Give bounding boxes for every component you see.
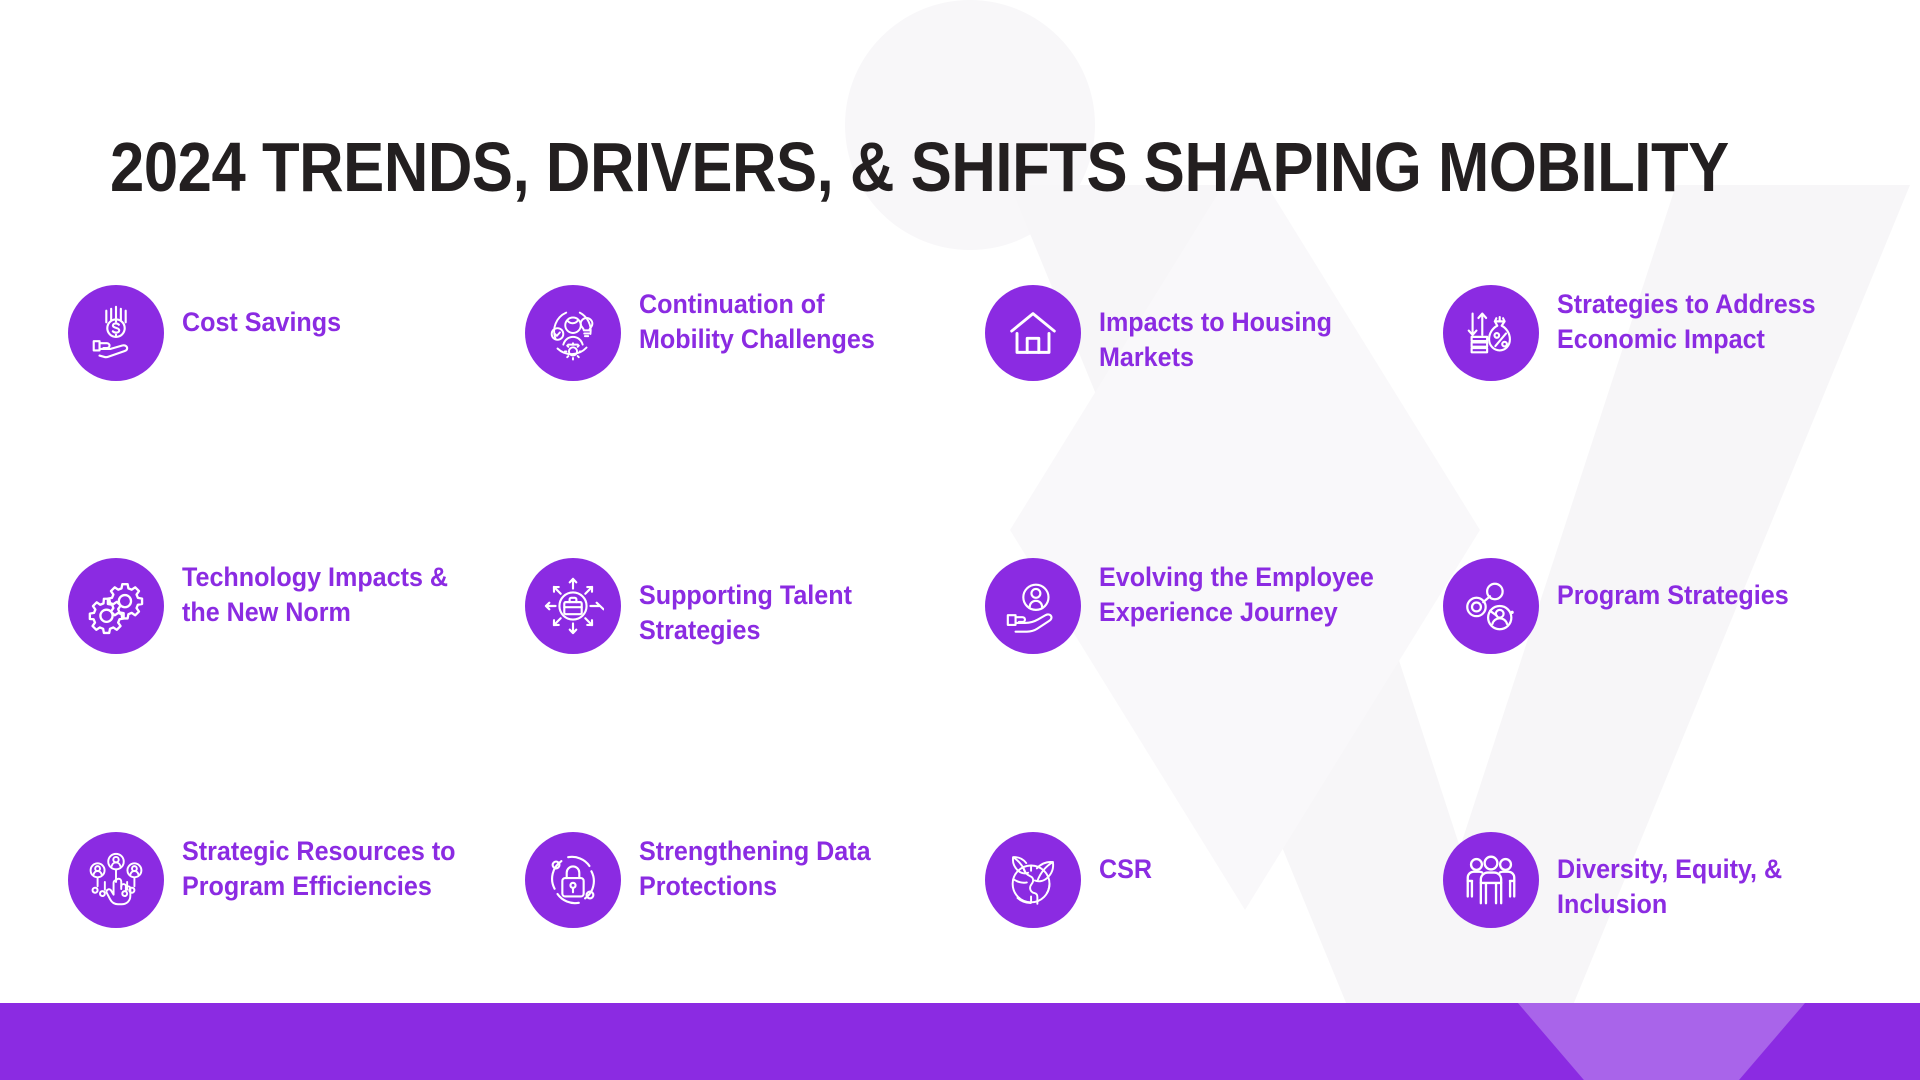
trend-item-strategies-to-address-economic-impact[interactable]: Strategies to Address Economic Impact (1443, 285, 1873, 381)
trend-item-label: Strategies to Address Economic Impact (1557, 285, 1851, 356)
hand-holding-person-icon (985, 558, 1081, 654)
trend-item-label: Evolving the Employee Experience Journey (1099, 558, 1393, 629)
trend-item-evolving-employee-experience-journey[interactable]: Evolving the Employee Experience Journey (985, 558, 1415, 654)
globe-with-leaves-icon (985, 832, 1081, 928)
briefcase-arrows-icon (525, 558, 621, 654)
trend-item-label: Strengthening Data Protections (639, 832, 918, 903)
hand-with-dollar-coin-icon (68, 285, 164, 381)
two-gears-icon (68, 558, 164, 654)
trend-item-label: Program Strategies (1557, 558, 1851, 613)
trend-item-label: Impacts to Housing Markets (1099, 285, 1393, 374)
trend-item-program-strategies[interactable]: Program Strategies (1443, 558, 1873, 654)
trend-item-cost-savings[interactable]: Cost Savings (68, 285, 498, 381)
trend-item-technology-impacts-new-norm[interactable]: Technology Impacts & the New Norm (68, 558, 498, 654)
trend-item-label: Continuation of Mobility Challenges (639, 285, 918, 356)
person-lightbulb-gear-icon (525, 285, 621, 381)
group-of-people-icon (1443, 832, 1539, 928)
trend-item-strategic-resources-program-efficiencies[interactable]: Strategic Resources to Program Efficienc… (68, 832, 498, 928)
infographic-slide: 2024 TRENDS, DRIVERS, & SHIFTS SHAPING M… (0, 0, 1920, 1080)
trend-item-label: Supporting Talent Strategies (639, 558, 918, 647)
hand-selecting-people-network-icon (68, 832, 164, 928)
trend-item-strengthening-data-protections[interactable]: Strengthening Data Protections (525, 832, 955, 928)
trend-item-continuation-of-mobility-challenges[interactable]: Continuation of Mobility Challenges (525, 285, 955, 381)
trends-grid: Cost Savings Continuation of M (0, 0, 1920, 1000)
trend-item-label: Cost Savings (182, 285, 461, 340)
house-icon (985, 285, 1081, 381)
money-bag-percent-arrows-icon (1443, 285, 1539, 381)
network-nodes-person-icon (1443, 558, 1539, 654)
trend-item-supporting-talent-strategies[interactable]: Supporting Talent Strategies (525, 558, 955, 654)
trend-item-label: Diversity, Equity, & Inclusion (1557, 832, 1851, 921)
trend-item-csr[interactable]: CSR (985, 832, 1415, 928)
trend-item-label: Technology Impacts & the New Norm (182, 558, 461, 629)
trend-item-label: Strategic Resources to Program Efficienc… (182, 832, 461, 903)
trend-item-impacts-to-housing-markets[interactable]: Impacts to Housing Markets (985, 285, 1415, 381)
padlock-orbit-icon (525, 832, 621, 928)
trend-item-diversity-equity-inclusion[interactable]: Diversity, Equity, & Inclusion (1443, 832, 1873, 928)
trend-item-label: CSR (1099, 832, 1393, 887)
